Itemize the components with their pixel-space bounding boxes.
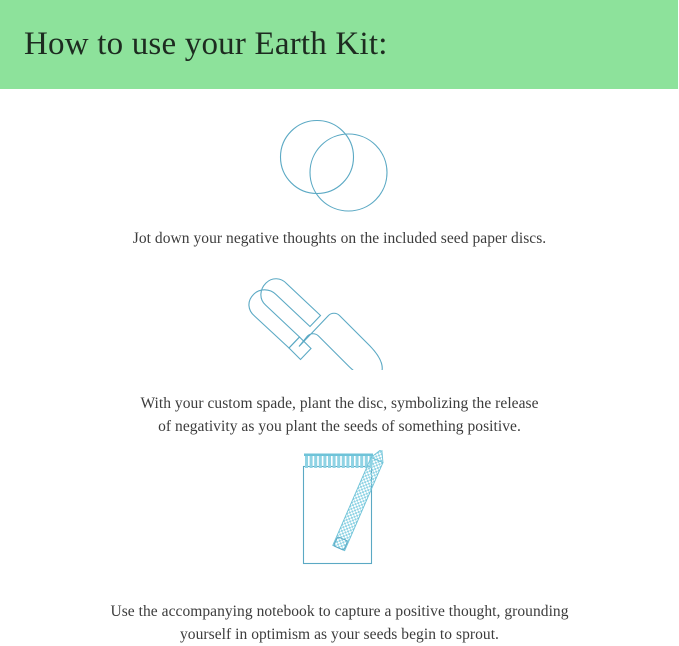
spade-icon	[249, 279, 382, 370]
notebook-and-pencil-illustration	[0, 450, 679, 572]
earth-kit-instruction-page: How to use your Earth Kit: Jot down your…	[0, 0, 679, 635]
notebook-spiral-binding	[304, 454, 373, 469]
step-2-caption-line-1: With your custom spade, plant the disc, …	[140, 395, 538, 412]
step-1: Jot down your negative thoughts on the i…	[0, 106, 679, 250]
seed-paper-discs-illustration	[0, 106, 679, 218]
spade-blade	[299, 313, 382, 370]
step-2: With your custom spade, plant the disc, …	[0, 272, 679, 438]
step-2-caption: With your custom spade, plant the disc, …	[60, 392, 620, 438]
spade-handle	[249, 279, 321, 348]
seed-disc-back-icon	[281, 121, 354, 194]
seed-disc-front-icon	[310, 134, 387, 211]
step-3-caption-line-1: Use the accompanying notebook to capture…	[110, 603, 568, 620]
garden-spade-illustration	[0, 272, 679, 370]
step-1-caption: Jot down your negative thoughts on the i…	[60, 227, 620, 250]
spade-ferrule	[289, 337, 311, 360]
header-banner: How to use your Earth Kit:	[0, 0, 678, 89]
page-title: How to use your Earth Kit:	[24, 22, 388, 66]
step-2-caption-line-2: of negativity as you plant the seeds of …	[158, 418, 521, 435]
step-3-caption: Use the accompanying notebook to capture…	[60, 600, 620, 646]
pencil-body	[333, 457, 383, 550]
step-3: Use the accompanying notebook to capture…	[0, 450, 679, 646]
